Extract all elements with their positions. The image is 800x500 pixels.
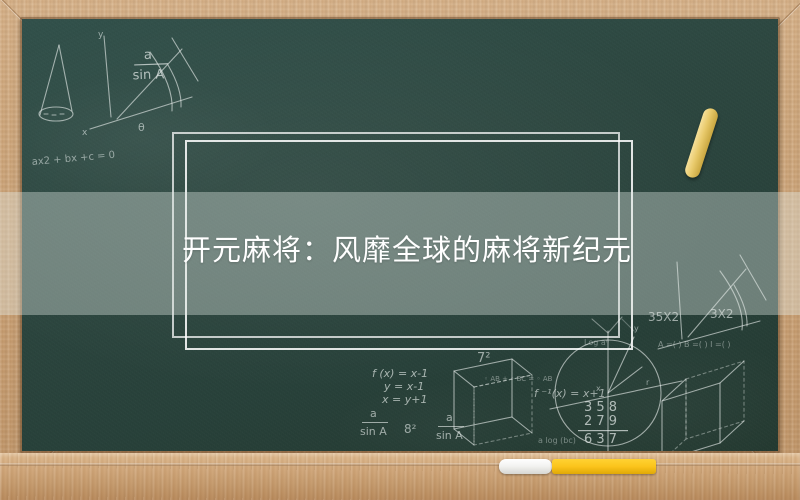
cube-diagram-bottom-left xyxy=(454,359,532,445)
formula-function-block: f (x) = x-1 y = x-1 x = y+1 xyxy=(372,367,428,406)
svg-text:a: a xyxy=(144,48,152,63)
chalk-ledge-lip xyxy=(0,463,800,466)
svg-text:6 3 7: 6 3 7 xyxy=(584,432,617,447)
cone-diagram xyxy=(39,45,73,121)
chalkboard-banner: a sin A ax2 + bx +c = 0 y x θ f (x) = x-… xyxy=(0,0,800,500)
formula-inverse-function: f ⁻¹(x) = x+1 xyxy=(534,387,606,400)
formula-log-an: Log aⁿ xyxy=(584,338,609,347)
angle-label-tl: θ xyxy=(138,121,145,134)
angle-axes-diagram-top-left xyxy=(90,36,198,129)
formula-vector-sum: ◦ AB + ◦ BC = ◦ AB xyxy=(484,375,553,383)
eraser xyxy=(499,459,552,474)
circle-axis-x-label: x xyxy=(596,384,601,393)
svg-text:a: a xyxy=(446,411,453,424)
formula-seven-squared: 7² xyxy=(477,351,490,366)
svg-text:f (x) = x-1: f (x) = x-1 xyxy=(372,367,428,380)
yellow-chalk-on-board xyxy=(683,106,720,179)
angle-arc-diagram-right xyxy=(658,255,766,349)
formula-law-of-sines-bm: a sin A xyxy=(436,411,464,442)
svg-text:x = y+1: x = y+1 xyxy=(381,393,427,406)
formula-log-bc: a log (bc) xyxy=(538,436,576,445)
formula-column-addition: 3 5 8 2 7 9 6 3 7 xyxy=(578,400,628,447)
formula-quadratic: ax2 + bx +c = 0 xyxy=(31,150,115,168)
svg-text:a: a xyxy=(370,407,377,420)
circle-radius-diagram xyxy=(550,317,682,451)
svg-text:sin A: sin A xyxy=(436,429,463,442)
formula-law-of-sines-tl: a sin A xyxy=(132,47,169,83)
svg-text:sin A: sin A xyxy=(132,67,164,83)
formula-matrix-row: A =( ) B =( ) I =( ) xyxy=(658,340,731,349)
formula-eight-squared: 8² xyxy=(404,422,417,436)
cube-diagram-bottom-right xyxy=(662,361,744,451)
axis-label-y-tl: y xyxy=(98,30,104,40)
svg-text:3 5 8: 3 5 8 xyxy=(584,400,617,415)
yellow-chalk-on-ledge xyxy=(552,459,656,474)
formula-mult-35x2: 35X2 xyxy=(648,310,679,324)
axis-label-x-tl: x xyxy=(82,128,88,138)
circle-axis-y-label: y xyxy=(634,324,639,333)
svg-text:sin A: sin A xyxy=(360,425,387,438)
circle-radius-label: r xyxy=(646,378,650,387)
chalk-ledge xyxy=(0,453,800,500)
formula-mult-3x2: 3X2 xyxy=(710,307,734,321)
page-title: 开元麻将：风靡全球的麻将新纪元 xyxy=(182,232,742,268)
formula-law-of-sines-bl: a sin A xyxy=(360,407,388,438)
svg-text:2 7 9: 2 7 9 xyxy=(584,414,617,429)
svg-text:y = x-1: y = x-1 xyxy=(383,380,424,393)
